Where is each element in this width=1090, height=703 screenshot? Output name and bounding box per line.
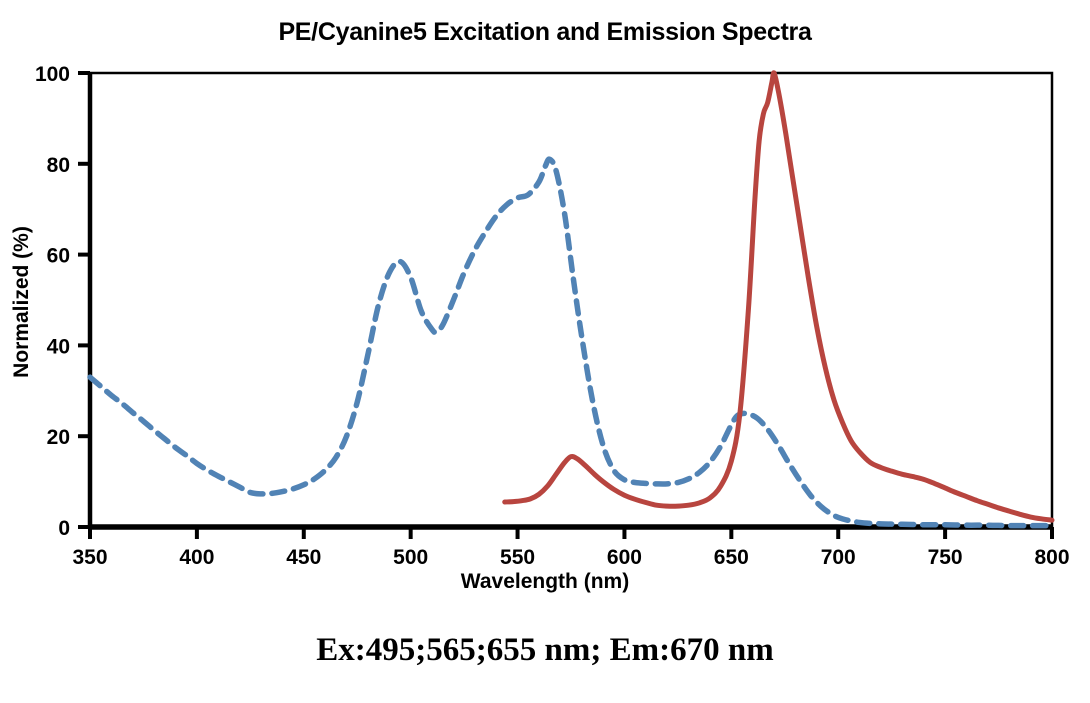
x-tick-label: 500	[393, 546, 428, 569]
x-tick-label: 350	[72, 546, 107, 569]
y-tick-label: 100	[35, 63, 70, 86]
series-group	[90, 73, 1052, 526]
plot-area: 0204060801003504004505005506006507007508…	[0, 0, 1090, 703]
x-tick-label: 450	[286, 546, 321, 569]
y-tick-label: 40	[47, 335, 70, 358]
x-tick-label: 700	[821, 546, 856, 569]
x-tick-label: 650	[714, 546, 749, 569]
x-tick-label: 600	[607, 546, 642, 569]
x-tick-label: 400	[179, 546, 214, 569]
axes-group	[78, 73, 1052, 539]
x-tick-label: 550	[500, 546, 535, 569]
series-line-excitation	[90, 159, 1052, 526]
y-tick-label: 80	[47, 154, 70, 177]
x-tick-label: 750	[928, 546, 963, 569]
tick-labels-group: 0204060801003504004505005506006507007508…	[35, 63, 1070, 569]
series-line-emission	[505, 73, 1052, 520]
y-tick-label: 20	[47, 426, 70, 449]
y-axis-title: Normalized (%)	[10, 192, 34, 412]
chart-caption: Ex:495;565;655 nm; Em:670 nm	[0, 632, 1090, 669]
x-axis-title: Wavelength (nm)	[0, 570, 1090, 594]
y-tick-label: 0	[58, 517, 70, 540]
x-tick-label: 800	[1034, 546, 1069, 569]
y-tick-label: 60	[47, 245, 70, 268]
spectra-chart-svg: 0204060801003504004505005506006507007508…	[0, 0, 1090, 703]
